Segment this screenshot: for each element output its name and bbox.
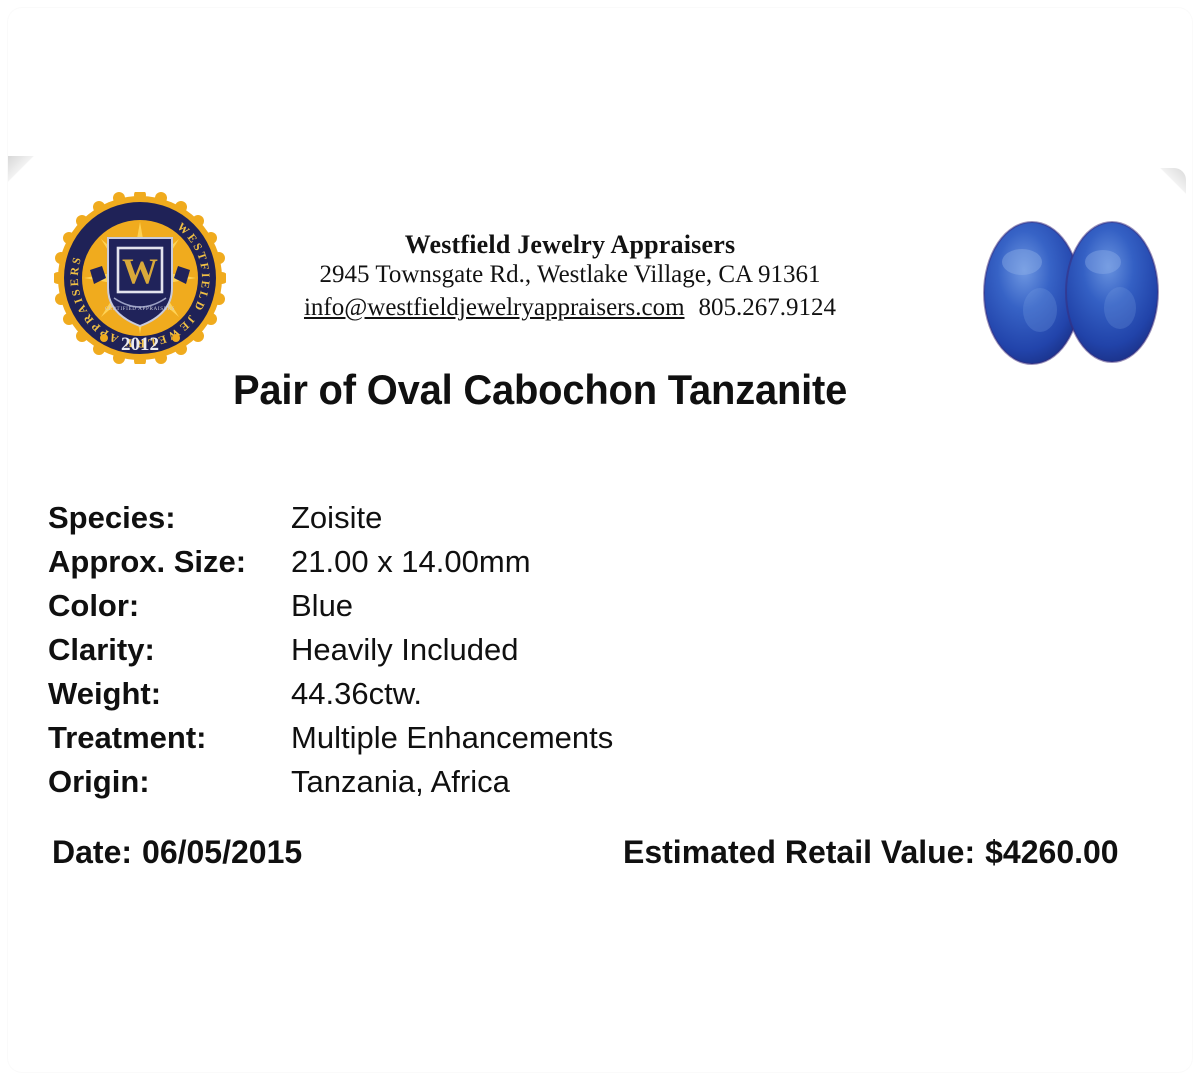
item-title: Pair of Oval Cabochon Tanzanite — [233, 366, 847, 414]
spec-row-approx-size: Approx. Size: 21.00 x 14.00mm — [48, 544, 868, 588]
card-footer: Date:06/05/2015 Estimated Retail Value:$… — [48, 834, 1168, 880]
spec-label: Species: — [48, 500, 291, 536]
specification-list: Species: Zoisite Approx. Size: 21.00 x 1… — [48, 500, 868, 808]
company-contact-line: info@westfieldjewelryappraisers.com805.2… — [240, 293, 900, 324]
date-value: 06/05/2015 — [142, 834, 302, 870]
spec-value: 44.36ctw. — [291, 676, 422, 712]
spec-label: Origin: — [48, 764, 291, 800]
retail-value-amount: $4260.00 — [985, 834, 1118, 870]
gemstone-right — [1066, 222, 1158, 362]
spec-row-species: Species: Zoisite — [48, 500, 868, 544]
company-info-block: Westfield Jewelry Appraisers 2945 Townsg… — [240, 230, 900, 323]
seal-year: 2012 — [121, 334, 159, 355]
spec-label: Treatment: — [48, 720, 291, 756]
card-header: WESTFIELD JEWELRY APPRAISERS W CERTIFIED… — [8, 8, 1192, 358]
svg-text:CERTIFIED APPRAISERS: CERTIFIED APPRAISERS — [105, 306, 175, 312]
company-seal-logo: WESTFIELD JEWELRY APPRAISERS W CERTIFIED… — [54, 192, 226, 364]
seal-monogram: W — [122, 251, 158, 291]
spec-row-clarity: Clarity: Heavily Included — [48, 632, 868, 676]
spec-row-weight: Weight: 44.36ctw. — [48, 676, 868, 720]
spec-value: Multiple Enhancements — [291, 720, 613, 756]
spec-label: Weight: — [48, 676, 291, 712]
spec-row-origin: Origin: Tanzania, Africa — [48, 764, 868, 808]
appraisal-date: Date:06/05/2015 — [52, 834, 302, 871]
spec-value: Blue — [291, 588, 353, 624]
spec-value: Zoisite — [291, 500, 382, 536]
spec-label: Approx. Size: — [48, 544, 291, 580]
company-name: Westfield Jewelry Appraisers — [240, 230, 900, 259]
spec-row-color: Color: Blue — [48, 588, 868, 632]
spec-value: Heavily Included — [291, 632, 518, 668]
spec-row-treatment: Treatment: Multiple Enhancements — [48, 720, 868, 764]
date-label: Date: — [52, 834, 132, 870]
spec-value: 21.00 x 14.00mm — [291, 544, 531, 580]
company-address: 2945 Townsgate Rd., Westlake Village, CA… — [240, 260, 900, 291]
spec-label: Clarity: — [48, 632, 291, 668]
spec-value: Tanzania, Africa — [291, 764, 510, 800]
gemstone-photo — [970, 206, 1166, 380]
estimated-retail-value: Estimated Retail Value:$4260.00 — [623, 834, 1119, 871]
company-phone: 805.267.9124 — [699, 294, 837, 321]
appraisal-card: WESTFIELD JEWELRY APPRAISERS W CERTIFIED… — [8, 8, 1192, 1072]
company-email-link[interactable]: info@westfieldjewelryappraisers.com — [304, 294, 685, 321]
retail-value-label: Estimated Retail Value: — [623, 834, 975, 870]
spec-label: Color: — [48, 588, 291, 624]
